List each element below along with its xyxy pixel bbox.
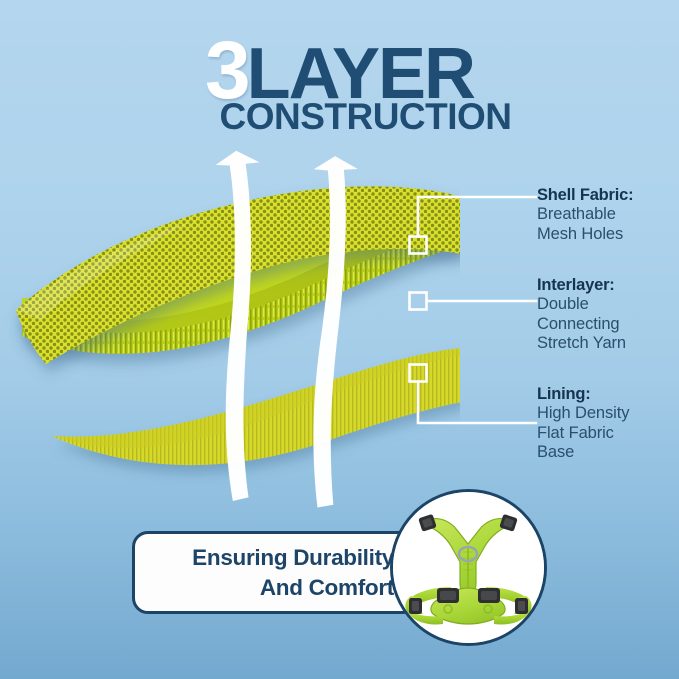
- callout-line: Double: [537, 295, 626, 314]
- callout-heading: Shell Fabric:: [537, 186, 633, 205]
- infographic-canvas: 3LAYER CONSTRUCTION: [0, 0, 679, 679]
- callout-line: Mesh Holes: [537, 225, 633, 244]
- fabric-layer-stack: [0, 150, 460, 510]
- callout-heading: Interlayer:: [537, 276, 626, 295]
- callout-line: High Density: [537, 404, 629, 423]
- callout-heading: Lining:: [537, 385, 629, 404]
- callout-interlayer: Interlayer: Double Connecting Stretch Ya…: [537, 276, 626, 354]
- dog-harness-icon: [393, 492, 544, 643]
- callout-lining: Lining: High Density Flat Fabric Base: [537, 385, 629, 463]
- title-subtitle: CONSTRUCTION: [0, 98, 679, 135]
- tagline-line-1: Ensuring Durability: [192, 543, 394, 573]
- callout-line: Breathable: [537, 205, 633, 224]
- callout-line: Flat Fabric: [537, 424, 629, 443]
- page-title: 3LAYER CONSTRUCTION: [0, 30, 679, 135]
- callout-line: Connecting: [537, 315, 626, 334]
- product-badge: [390, 489, 547, 646]
- callout-line: Base: [537, 443, 629, 462]
- tagline-line-2: And Comfort: [260, 573, 394, 603]
- tagline-banner: Ensuring Durability And Comfort: [132, 531, 419, 614]
- layer-lining: [52, 348, 460, 465]
- callout-shell-fabric: Shell Fabric: Breathable Mesh Holes: [537, 186, 633, 244]
- callout-line: Stretch Yarn: [537, 334, 626, 353]
